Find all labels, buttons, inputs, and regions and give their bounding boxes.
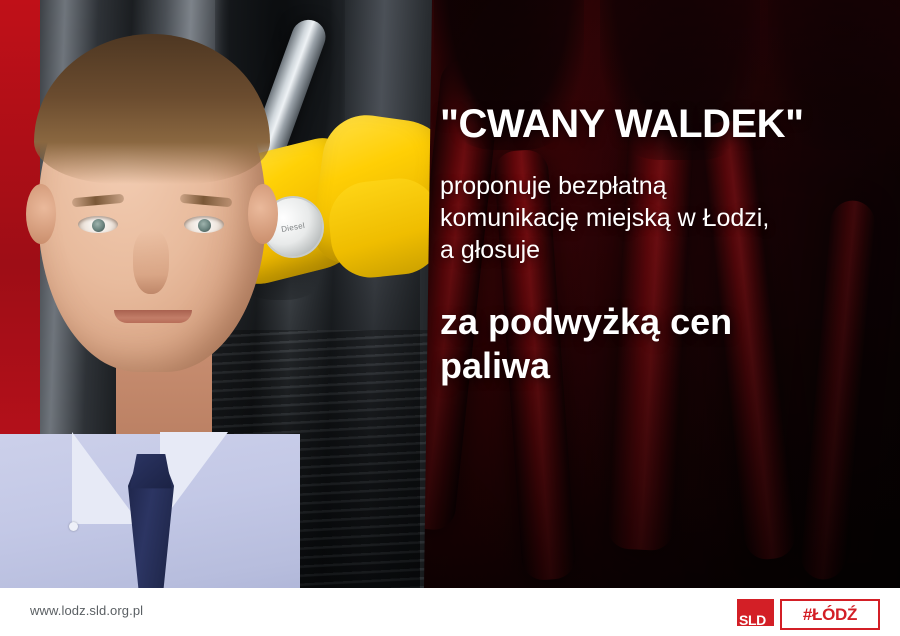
iris-right (198, 219, 211, 232)
subtext-line-3: a głosuje (440, 234, 892, 266)
necktie-knot (130, 454, 172, 494)
emphasis-line-2: paliwa (440, 344, 892, 388)
politician-portrait (0, 34, 300, 588)
subtext-line-2: komunikację miejską w Łodzi, (440, 202, 892, 234)
lodz-hashtag-label: #ŁÓDŹ (803, 606, 857, 623)
message-block: "CWANY WALDEK" proponuje bezpłatną komun… (440, 0, 892, 388)
ear-left (26, 184, 56, 244)
sld-logo-label: SLD (737, 613, 774, 630)
mouth (114, 310, 192, 323)
hair (34, 34, 270, 184)
collar-button-left (69, 522, 78, 531)
site-url[interactable]: www.lodz.sld.org.pl (30, 603, 143, 618)
emphasis-line-1: za podwyżką cen (440, 300, 892, 344)
nose (133, 230, 169, 294)
subtext: proponuje bezpłatną komunikację miejską … (440, 144, 892, 266)
ear-right (248, 184, 278, 244)
campaign-poster: Diesel (0, 0, 900, 636)
collar-left (72, 432, 140, 524)
subtext-line-1: proponuje bezpłatną (440, 170, 892, 202)
footer-bar: www.lodz.sld.org.pl SLD #ŁÓDŹ (0, 588, 900, 636)
iris-left (92, 219, 105, 232)
sld-logo[interactable]: SLD (737, 599, 774, 626)
headline: "CWANY WALDEK" (440, 0, 892, 144)
emphasis-text: za podwyżką cen paliwa (440, 266, 892, 388)
lodz-hashtag-badge[interactable]: #ŁÓDŹ (780, 599, 880, 630)
logo-group: SLD #ŁÓDŹ (737, 599, 880, 630)
